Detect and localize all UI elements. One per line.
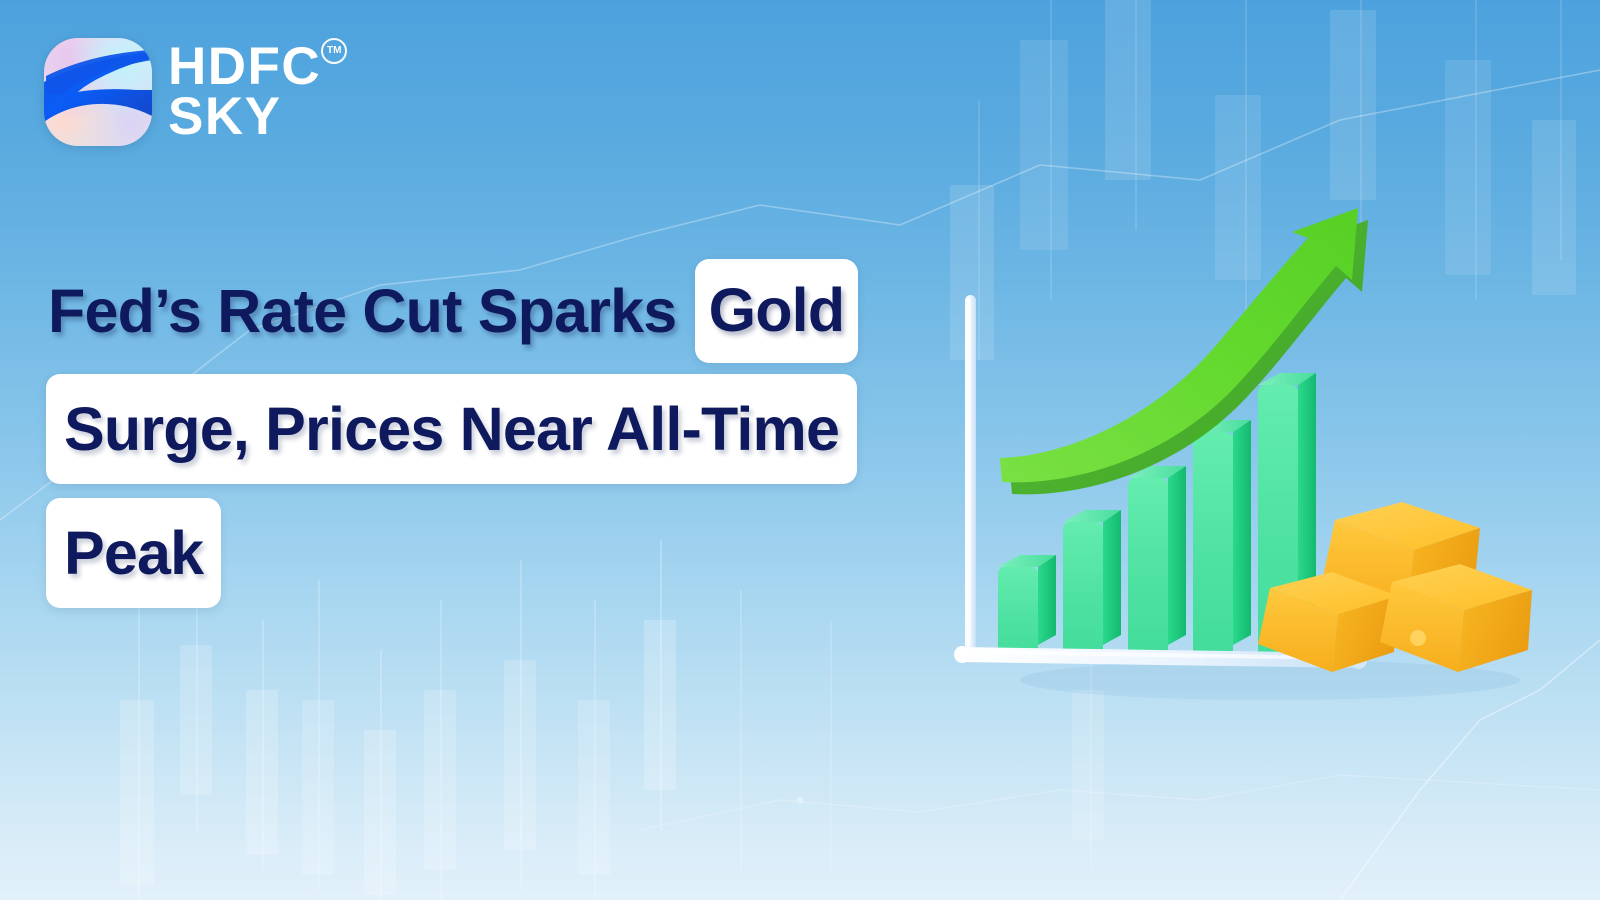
hdfc-sky-swoosh-logo-icon	[44, 38, 152, 146]
headline-line1-highlight: Gold	[695, 259, 859, 363]
headline-line-2: Surge, Prices Near All-Time	[46, 374, 857, 484]
chart-y-axis-icon	[965, 295, 976, 650]
chart-bar-4	[1193, 420, 1251, 657]
brand-name-line2: SKY	[168, 92, 321, 142]
headline-line-1: Fed’s Rate Cut Sparks Gold	[46, 262, 966, 360]
promo-banner: HDFC SKY TM Fed’s Rate Cut Sparks Gold S…	[0, 0, 1600, 900]
headline-line-3: Peak	[46, 498, 221, 608]
chart-bar-1	[998, 555, 1056, 657]
3d-growth-chart-illustration	[940, 210, 1580, 730]
headline-line1-plain: Fed’s Rate Cut Sparks	[46, 276, 695, 346]
trademark-icon: TM	[321, 38, 347, 64]
chart-bar-2	[1063, 510, 1121, 657]
brand-name-line1: HDFC	[168, 42, 321, 92]
headline-line3-text: Peak	[62, 518, 205, 588]
headline: Fed’s Rate Cut Sparks Gold Surge, Prices…	[46, 262, 966, 622]
chart-bar-3	[1128, 466, 1186, 657]
brand-logo[interactable]: HDFC SKY TM	[44, 38, 347, 146]
gold-bar-bottom-right	[1380, 564, 1532, 672]
headline-line2-text: Surge, Prices Near All-Time	[62, 394, 841, 464]
brand-wordmark: HDFC SKY TM	[168, 42, 347, 142]
